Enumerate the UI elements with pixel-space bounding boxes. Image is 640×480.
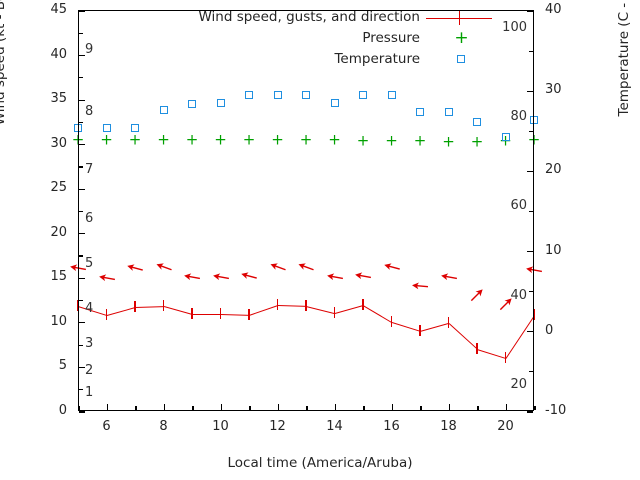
y2-tick-label: 0 bbox=[545, 323, 553, 338]
y-tick bbox=[79, 10, 85, 11]
y2-tick-label: 40 bbox=[545, 2, 562, 17]
x-tick-minor bbox=[363, 406, 364, 410]
fahrenheit-label: 60 bbox=[0, 198, 527, 213]
x-tick-minor bbox=[192, 406, 193, 410]
y2-tick bbox=[527, 10, 533, 11]
y2-tick-label: 10 bbox=[545, 243, 562, 258]
beaufort-label: 7 bbox=[85, 162, 93, 177]
y-tick-label: 0 bbox=[0, 403, 67, 418]
y-tick-label: 10 bbox=[0, 314, 67, 329]
x-tick-label: 8 bbox=[144, 419, 184, 434]
y-tick-label: 30 bbox=[0, 136, 67, 151]
y2-tick-label: -10 bbox=[545, 403, 566, 418]
y-tick-minor bbox=[79, 77, 83, 78]
y-tick-minor bbox=[79, 255, 83, 256]
y2-tick-minor bbox=[529, 291, 533, 292]
x-tick bbox=[164, 404, 165, 410]
y2-tick-label: 20 bbox=[545, 162, 562, 177]
y2-axis-title: Temperature (C - F) bbox=[616, 0, 632, 136]
x-axis-title: Local time (America/Aruba) bbox=[0, 455, 640, 471]
x-tick-minor bbox=[420, 406, 421, 410]
y2-tick bbox=[527, 331, 533, 332]
x-tick-label: 14 bbox=[315, 419, 355, 434]
y-tick-label: 25 bbox=[0, 180, 67, 195]
y2-tick-minor bbox=[529, 371, 533, 372]
x-tick-minor bbox=[249, 406, 250, 410]
y-tick-label: 35 bbox=[0, 91, 67, 106]
beaufort-label: 9 bbox=[85, 42, 93, 57]
y2-tick bbox=[527, 411, 533, 412]
x-tick-label: 18 bbox=[429, 419, 469, 434]
x-tick bbox=[221, 404, 222, 410]
y-tick bbox=[79, 411, 85, 412]
y2-tick-minor bbox=[529, 211, 533, 212]
beaufort-label: 4 bbox=[85, 301, 93, 316]
x-tick-minor bbox=[78, 406, 79, 410]
x-tick bbox=[449, 404, 450, 410]
x-tick bbox=[506, 404, 507, 410]
fahrenheit-label: 80 bbox=[0, 109, 527, 124]
y-tick-label: 20 bbox=[0, 225, 67, 240]
y2-tick bbox=[527, 171, 533, 172]
x-tick bbox=[335, 404, 336, 410]
x-tick bbox=[107, 404, 108, 410]
y2-tick bbox=[527, 251, 533, 252]
y-tick-minor bbox=[79, 345, 83, 346]
y-tick-label: 45 bbox=[0, 2, 67, 17]
beaufort-label: 3 bbox=[85, 336, 93, 351]
y-tick bbox=[79, 233, 85, 234]
beaufort-label: 5 bbox=[85, 256, 93, 271]
y-tick-label: 40 bbox=[0, 47, 67, 62]
x-tick-minor bbox=[534, 406, 535, 410]
x-tick-label: 12 bbox=[258, 419, 298, 434]
x-tick bbox=[392, 404, 393, 410]
x-tick-label: 16 bbox=[372, 419, 412, 434]
beaufort-label: 6 bbox=[85, 211, 93, 226]
x-tick-label: 20 bbox=[486, 419, 526, 434]
y-tick bbox=[79, 322, 85, 323]
y-tick bbox=[79, 189, 85, 190]
y-tick bbox=[79, 278, 85, 279]
x-tick-minor bbox=[477, 406, 478, 410]
y2-tick bbox=[527, 91, 533, 92]
fahrenheit-label: 40 bbox=[0, 288, 527, 303]
y-tick-minor bbox=[79, 166, 83, 167]
fahrenheit-label: 20 bbox=[0, 377, 527, 392]
x-tick-minor bbox=[135, 406, 136, 410]
x-tick bbox=[278, 404, 279, 410]
y-tick-label: 5 bbox=[0, 358, 67, 373]
x-tick-minor bbox=[306, 406, 307, 410]
x-tick-label: 10 bbox=[201, 419, 241, 434]
y-tick bbox=[79, 144, 85, 145]
fahrenheit-label: 100 bbox=[0, 20, 527, 35]
x-tick-label: 6 bbox=[87, 419, 127, 434]
y2-tick-minor bbox=[529, 131, 533, 132]
y2-tick-minor bbox=[529, 51, 533, 52]
y2-tick-label: 30 bbox=[545, 82, 562, 97]
y-tick-label: 15 bbox=[0, 269, 67, 284]
y-tick bbox=[79, 100, 85, 101]
